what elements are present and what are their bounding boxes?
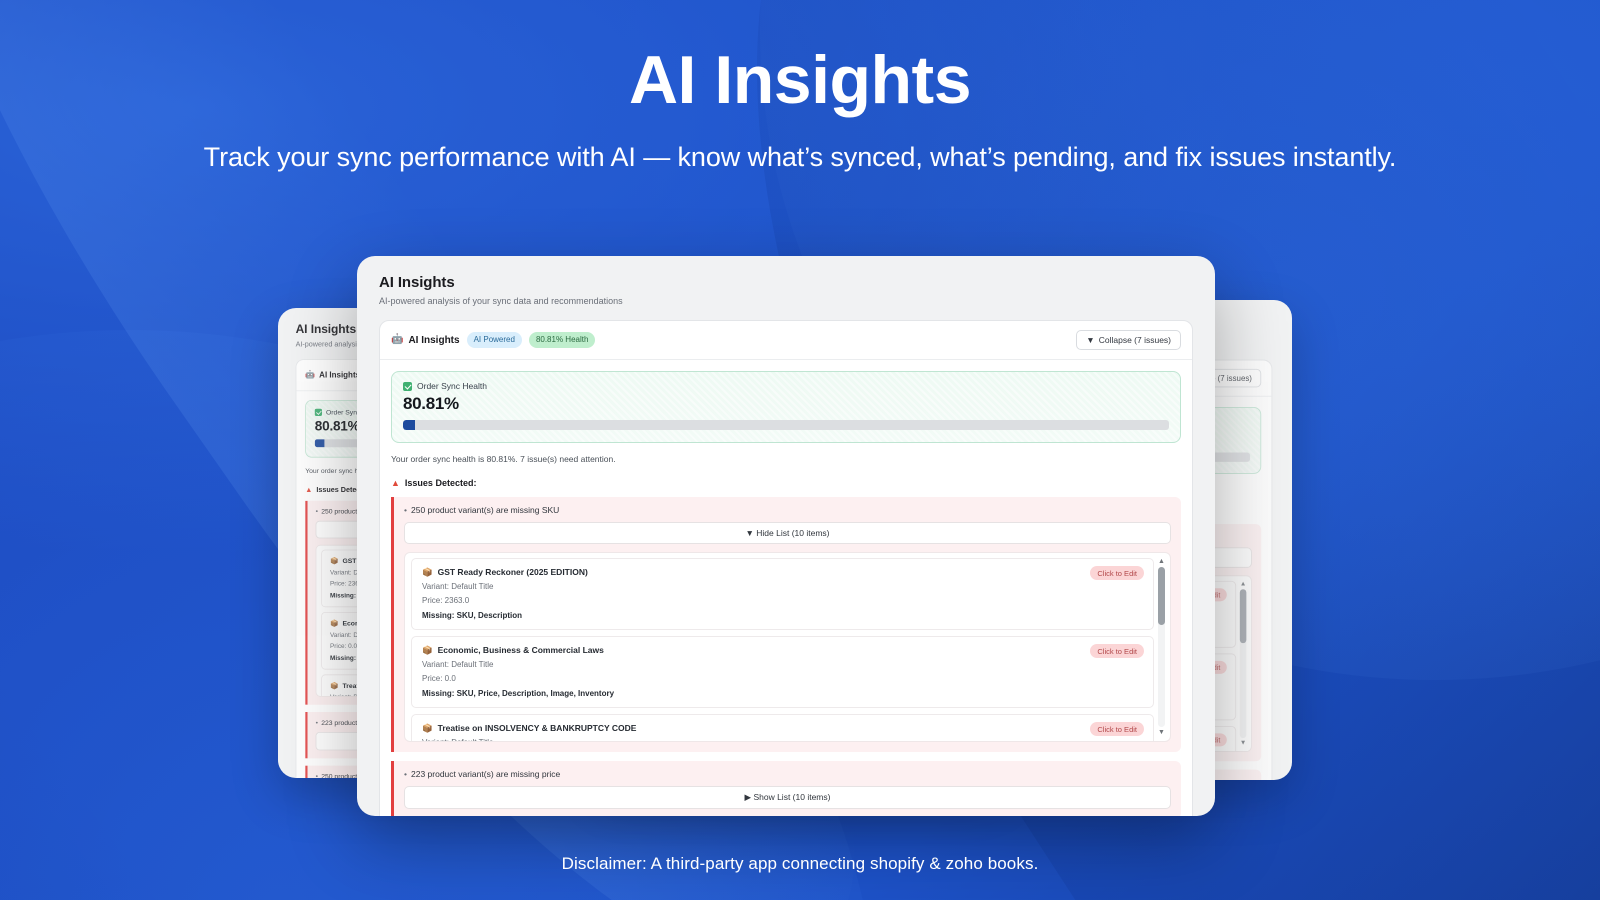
show-list-button-price[interactable]: ▶ Show List (10 items) xyxy=(404,786,1171,809)
scroll-down-arrow-icon[interactable]: ▼ xyxy=(1240,740,1246,747)
package-icon: 📦 xyxy=(330,557,338,564)
health-progress-fill xyxy=(315,439,325,447)
vertical-scrollbar[interactable]: ▲ ▼ xyxy=(1239,581,1247,747)
product-name-row: 📦 GST Ready Reckoner (2025 EDITION) xyxy=(422,567,1143,577)
product-price: Price: 2363.0 xyxy=(422,596,1143,605)
scrollbar-thumb[interactable] xyxy=(1158,567,1165,625)
product-missing-fields: Missing: SKU, Description xyxy=(422,611,1143,620)
hide-list-label: Hide List (10 items) xyxy=(756,528,829,538)
issue-bullet-icon: • xyxy=(316,772,318,778)
product-card-gst-ready-reckoner: 📦 GST Ready Reckoner (2025 EDITION) Vari… xyxy=(411,558,1154,630)
product-price: Price: 0.0 xyxy=(422,674,1143,683)
issue-title-text: 250 product variant(s) are missing SKU xyxy=(411,505,559,515)
issue-title: •223 product variant(s) are missing pric… xyxy=(404,769,1171,779)
issue-bullet-icon: • xyxy=(316,718,318,726)
health-label-row: Order Sync Health xyxy=(403,381,1169,391)
show-list-label: Show List (10 items) xyxy=(753,792,830,802)
page-subtitle: Track your sync performance with AI — kn… xyxy=(0,138,1600,177)
issue-bullet-icon: • xyxy=(404,505,407,515)
product-name-text: Treatise on INSOLVENCY & BANKRUPTCY CODE xyxy=(438,723,637,733)
hero-section: AI Insights Track your sync performance … xyxy=(0,0,1600,178)
warning-icon: ▲ xyxy=(305,486,312,493)
issue-title: •250 product variant(s) are missing SKU xyxy=(404,505,1171,515)
health-value: 80.81% xyxy=(403,394,1169,414)
issue-block-missing-sku: •250 product variant(s) are missing SKU … xyxy=(391,497,1181,752)
toggle-caret-icon: ▼ xyxy=(745,528,753,538)
order-sync-health-box: Order Sync Health 80.81% xyxy=(391,371,1181,443)
package-icon: 📦 xyxy=(330,620,338,627)
issue-bullet-icon: • xyxy=(316,507,318,515)
collapse-caret-icon: ▼ xyxy=(1086,335,1094,345)
package-icon: 📦 xyxy=(330,682,338,689)
product-scroll-area[interactable]: 📦 GST Ready Reckoner (2025 EDITION) Vari… xyxy=(404,552,1171,742)
product-name-text: Economic, Business & Commercial Laws xyxy=(438,645,604,655)
issues-heading-text: Issues Detected: xyxy=(405,478,477,488)
panel-title-text-left: AI Insights xyxy=(319,371,360,380)
click-to-edit-chip[interactable]: Click to Edit xyxy=(1090,644,1144,658)
scroll-down-arrow-icon[interactable]: ▼ xyxy=(1158,729,1165,736)
vertical-scrollbar[interactable]: ▲ ▼ xyxy=(1157,558,1166,736)
panel-title-text: AI Insights xyxy=(408,335,459,346)
page-background: AI Insights Track your sync performance … xyxy=(0,0,1600,900)
panel-title: 🤖 AI Insights xyxy=(391,335,460,346)
collapse-label: Collapse (7 issues) xyxy=(1099,335,1171,345)
health-progress-bar xyxy=(403,420,1169,430)
issue-block-missing-price: •223 product variant(s) are missing pric… xyxy=(391,761,1181,816)
health-progress-fill xyxy=(403,420,415,430)
health-badge: 80.81% Health xyxy=(529,332,595,347)
scrollbar-rail[interactable] xyxy=(1158,567,1165,727)
page-title: AI Insights xyxy=(0,45,1600,116)
panel-divider xyxy=(380,359,1192,360)
toggle-caret-icon: ▶ xyxy=(745,792,752,802)
product-variant: Variant: Default Title xyxy=(422,582,1143,591)
panel-title-left: 🤖 AI Insights xyxy=(305,371,360,380)
scrollbar-thumb[interactable] xyxy=(1240,589,1247,643)
warning-icon: ▲ xyxy=(391,479,400,488)
disclaimer-text: Disclaimer: A third-party app connecting… xyxy=(0,854,1600,874)
main-screenshot-card: AI Insights AI-powered analysis of your … xyxy=(357,256,1215,816)
product-variant: Variant: Default Title xyxy=(422,660,1143,669)
product-card-treatise-insolvency-bankruptcy-code: 📦 Treatise on INSOLVENCY & BANKRUPTCY CO… xyxy=(411,714,1154,742)
doc-title: AI Insights xyxy=(379,274,1193,291)
collapse-button[interactable]: ▼ Collapse (7 issues) xyxy=(1076,330,1181,350)
health-note: Your order sync health is 80.81%. 7 issu… xyxy=(391,454,1181,464)
product-name-text: GST Ready Reckoner (2025 EDITION) xyxy=(438,567,588,577)
click-to-edit-chip[interactable]: Click to Edit xyxy=(1090,722,1144,736)
issue-bullet-icon: • xyxy=(404,769,407,779)
scrollbar-rail[interactable] xyxy=(1240,589,1247,738)
product-missing-fields: Missing: SKU, Price, Description, Image,… xyxy=(422,689,1143,698)
package-icon: 📦 xyxy=(422,568,433,577)
product-name-row: 📦 Treatise on INSOLVENCY & BANKRUPTCY CO… xyxy=(422,723,1143,733)
issue-title-text: 223 product variant(s) are missing price xyxy=(411,769,560,779)
check-icon xyxy=(315,408,322,415)
robot-icon: 🤖 xyxy=(305,371,315,379)
package-icon: 📦 xyxy=(422,646,433,655)
product-variant: Variant: Default Title xyxy=(422,738,1143,742)
scroll-up-arrow-icon[interactable]: ▲ xyxy=(1240,581,1246,588)
product-card-economic-business-commercial-laws: 📦 Economic, Business & Commercial Laws V… xyxy=(411,636,1154,708)
issues-heading: ▲ Issues Detected: xyxy=(391,478,1181,488)
health-label-text: Order Sync Health xyxy=(417,381,487,391)
scroll-up-arrow-icon[interactable]: ▲ xyxy=(1158,558,1165,565)
click-to-edit-chip[interactable]: Click to Edit xyxy=(1090,566,1144,580)
product-name-row: 📦 Economic, Business & Commercial Laws xyxy=(422,645,1143,655)
panel-header: 🤖 AI Insights AI Powered 80.81% Health ▼… xyxy=(391,330,1181,350)
ai-powered-badge: AI Powered xyxy=(467,332,522,347)
hide-list-button[interactable]: ▼ Hide List (10 items) xyxy=(404,522,1171,544)
doc-subtitle: AI-powered analysis of your sync data an… xyxy=(379,296,1193,306)
card-body-main: AI Insights AI-powered analysis of your … xyxy=(357,256,1215,816)
check-icon xyxy=(403,382,412,391)
robot-icon: 🤖 xyxy=(391,335,403,345)
insights-panel: 🤖 AI Insights AI Powered 80.81% Health ▼… xyxy=(379,320,1193,816)
package-icon: 📦 xyxy=(422,724,433,733)
